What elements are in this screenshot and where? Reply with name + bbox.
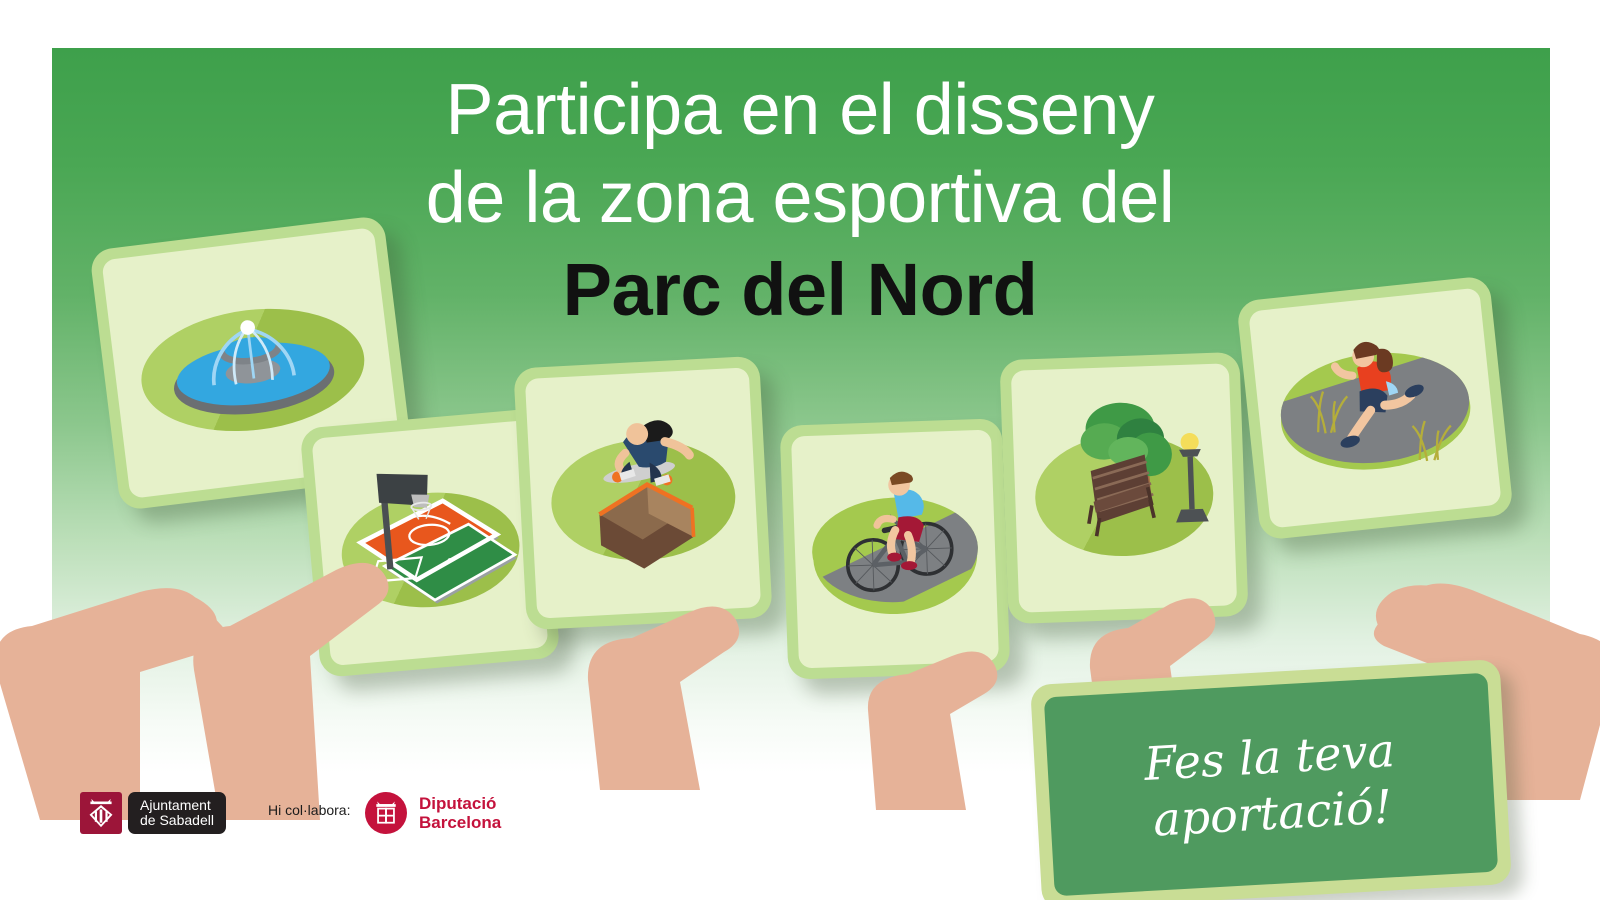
hand-center-right — [846, 560, 1046, 810]
collaborate-label: Hi col·labora: — [268, 802, 350, 818]
banner-stage: Participa en el disseny de la zona espor… — [0, 0, 1600, 900]
footer-logos: Ajuntament de Sabadell Hi col·labora: — [0, 782, 1600, 862]
sabadell-crest-icon — [80, 792, 122, 834]
callout-card[interactable]: Fes la teva aportació! — [1030, 659, 1512, 900]
hand-center-left — [560, 500, 790, 790]
diputacio-barcelona-logo[interactable]: Diputació Barcelona — [365, 792, 501, 834]
diputacio-seal-icon — [365, 792, 407, 834]
ajuntament-name: Ajuntament de Sabadell — [128, 792, 226, 834]
diputacio-line-1: Diputació — [419, 794, 496, 813]
diputacio-name: Diputació Barcelona — [419, 794, 501, 832]
diputacio-line-2: Barcelona — [419, 813, 501, 832]
ajuntament-line-1: Ajuntament — [140, 798, 214, 813]
ajuntament-sabadell-logo[interactable]: Ajuntament de Sabadell — [80, 792, 226, 834]
hand-left-inner — [160, 440, 420, 820]
ajuntament-line-2: de Sabadell — [140, 813, 214, 828]
